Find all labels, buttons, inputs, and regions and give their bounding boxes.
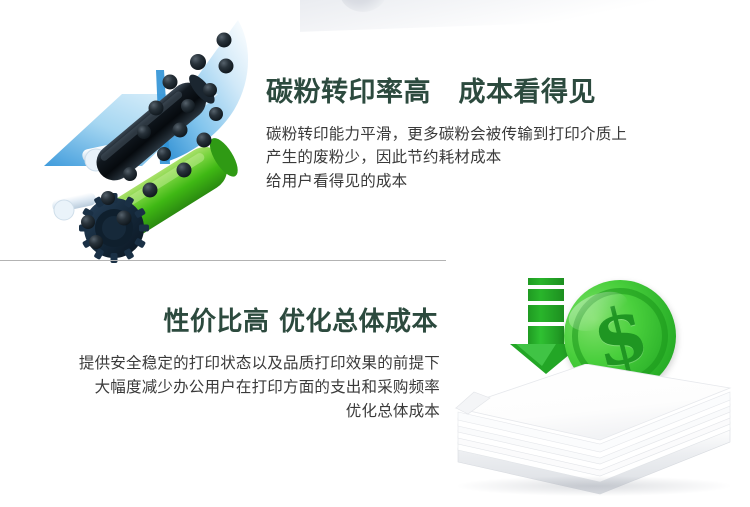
paper-stack-shadow (458, 476, 730, 496)
section1-body-line-2: 产生的废粉少，因此节约耗材成本 (266, 146, 686, 170)
section1-title: 碳粉转印率高 成本看得见 (266, 76, 686, 110)
section-divider (0, 260, 446, 261)
product-detail-page: 碳粉转印率高 成本看得见 碳粉转印能力平滑，更多碳粉会被传输到打印介质上 产生的… (0, 0, 750, 507)
arrow-segment-1 (528, 278, 564, 285)
toner-transfer-illustration (38, 14, 278, 270)
green-roller-shaft-cap (54, 200, 74, 220)
section1-body-line-3: 给用户看得见的成本 (266, 170, 686, 194)
section1-text-block: 碳粉转印率高 成本看得见 碳粉转印能力平滑，更多碳粉会被传输到打印介质上 产生的… (266, 76, 686, 193)
section2-text-block: 性价比高 优化总体成本 提供安全稳定的打印状态以及品质打印效果的前提下 大幅度减… (18, 306, 440, 424)
section1-body: 碳粉转印能力平滑，更多碳粉会被传输到打印介质上 产生的废粉少，因此节约耗材成本 … (266, 123, 686, 194)
toner-transfer-svg (38, 14, 278, 270)
section2-body: 提供安全稳定的打印状态以及品质打印效果的前提下 大幅度减少办公用户在打印方面的支… (18, 351, 440, 424)
paper-stack-illustration (434, 364, 748, 504)
section2-body-line-2: 大幅度减少办公用户在打印方面的支出和采购频率 (18, 375, 440, 399)
arrow-head-highlight (516, 344, 556, 366)
section2-body-line-1: 提供安全稳定的打印状态以及品质打印效果的前提下 (18, 351, 440, 375)
section2-body-line-3: 优化总体成本 (18, 399, 440, 423)
section1-body-line-1: 碳粉转印能力平滑，更多碳粉会被传输到打印介质上 (266, 123, 686, 147)
section2-title: 性价比高 优化总体成本 (18, 306, 440, 339)
cost-saving-illustration: $ (432, 268, 750, 507)
